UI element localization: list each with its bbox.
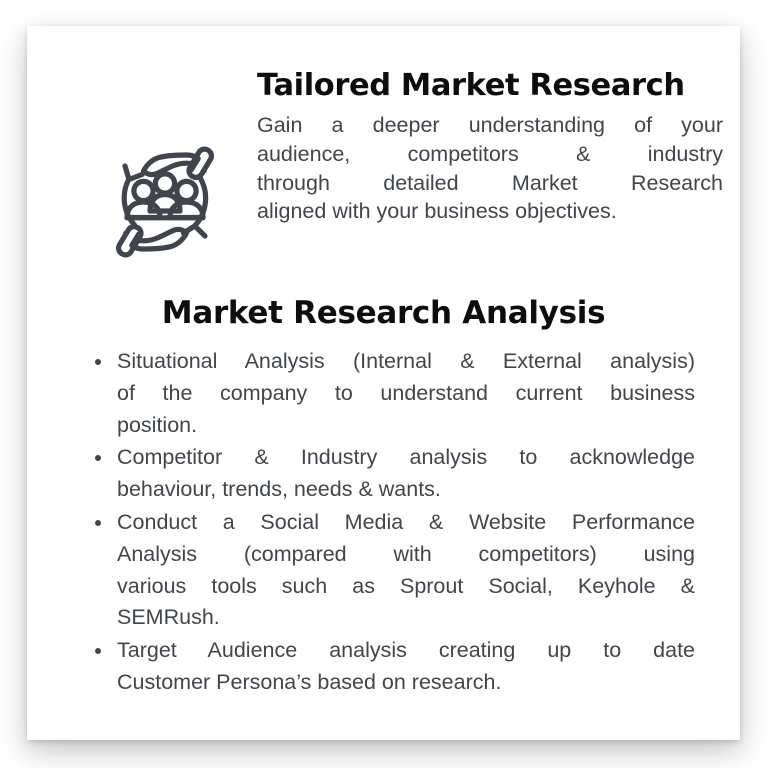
page-title: Tailored Market Research: [257, 70, 723, 102]
list-item-text: Target Audience analysis creating up to …: [117, 635, 695, 699]
bullet-point-icon: [95, 520, 101, 526]
list-item-line: position.: [117, 410, 695, 442]
list-item-line: Situational Analysis (Internal & Externa…: [117, 346, 695, 378]
list-item: Competitor & Industry analysis to acknow…: [85, 442, 695, 506]
list-item-line: Customer Persona’s based on research.: [117, 667, 695, 699]
list-item-line: behaviour, trends, needs & wants.: [117, 474, 695, 506]
hero-description-line: audience, competitors & industry: [257, 140, 723, 169]
hero-description-line: Gain a deeper understanding of your: [257, 111, 723, 140]
section-heading: Market Research Analysis: [27, 296, 740, 330]
list-item-line: Analysis (compared with competitors) usi…: [117, 539, 695, 571]
bullet-point-icon: [95, 359, 101, 365]
list-item-text: Conduct a Social Media & Website Perform…: [117, 507, 695, 634]
bullet-point-icon: [95, 648, 101, 654]
screenshot-stage: Tailored Market Research Gain a deeper u…: [0, 0, 768, 768]
list-item-line: SEMRush.: [117, 602, 695, 634]
list-item: Conduct a Social Media & Website Perform…: [85, 507, 695, 634]
bullet-point-icon: [95, 455, 101, 461]
list-item-line: Conduct a Social Media & Website Perform…: [117, 507, 695, 539]
list-item-line: various tools such as Sprout Social, Key…: [117, 571, 695, 603]
list-item-line: Target Audience analysis creating up to …: [117, 635, 695, 667]
list-item: Situational Analysis (Internal & Externa…: [85, 346, 695, 441]
hero-text-block: Tailored Market Research Gain a deeper u…: [257, 70, 723, 226]
card-content: Tailored Market Research Gain a deeper u…: [27, 26, 740, 740]
list-item-text: Situational Analysis (Internal & Externa…: [117, 346, 695, 441]
hands-holding-people-cycle-icon: [95, 132, 235, 272]
list-item: Target Audience analysis creating up to …: [85, 635, 695, 699]
list-item-line: of the company to understand current bus…: [117, 378, 695, 410]
market-research-bullet-list: Situational Analysis (Internal & Externa…: [85, 346, 695, 700]
hero-description-line: aligned with your business objectives.: [257, 197, 723, 226]
hero-section: Tailored Market Research Gain a deeper u…: [65, 70, 705, 270]
info-card: Tailored Market Research Gain a deeper u…: [27, 26, 740, 740]
list-item-line: Competitor & Industry analysis to acknow…: [117, 442, 695, 474]
list-item-text: Competitor & Industry analysis to acknow…: [117, 442, 695, 506]
hero-description: Gain a deeper understanding of your audi…: [257, 111, 723, 225]
hero-description-line: through detailed Market Research: [257, 169, 723, 198]
